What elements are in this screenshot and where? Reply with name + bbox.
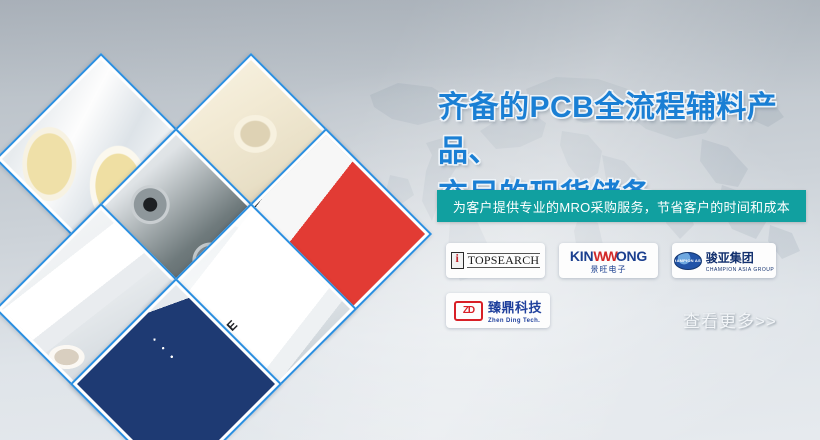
partner-logo-kinwong[interactable]: KINWWONG 景旺电子 xyxy=(559,243,658,278)
globe-icon: CHAMPION ASIA xyxy=(674,252,702,270)
partner-logo-row-1: TOPSEARCH KINWWONG 景旺电子 CHAMPION ASIA xyxy=(446,243,820,278)
kinwong-word-start: KIN xyxy=(570,248,594,264)
topsearch-lockup: TOPSEARCH xyxy=(451,252,541,269)
partner-logo-zhen-ding[interactable]: ZD 臻鼎科技 Zhen Ding Tech. xyxy=(446,293,550,328)
view-more-link[interactable]: 查看更多>> xyxy=(683,307,777,332)
kinwong-cn-name: 景旺电子 xyxy=(570,266,647,274)
champion-asia-cn-name: 骏亚集团 xyxy=(706,249,774,266)
kinwong-lockup: KINWWONG 景旺电子 xyxy=(570,248,647,274)
kinwong-word-end: ONG xyxy=(616,248,647,264)
zhen-ding-text: 臻鼎科技 Zhen Ding Tech. xyxy=(488,297,542,324)
partner-logo-champion-asia[interactable]: CHAMPION ASIA 骏亚集团 CHAMPION ASIA GROUP xyxy=(672,243,776,278)
topsearch-wordmark: TOPSEARCH xyxy=(467,253,541,268)
zhen-ding-cn-name: 臻鼎科技 xyxy=(488,297,542,316)
globe-icon-label: CHAMPION ASIA xyxy=(674,258,702,263)
partner-logo-topsearch[interactable]: TOPSEARCH xyxy=(446,243,545,278)
champion-asia-en-name: CHAMPION ASIA GROUP xyxy=(706,268,774,273)
product-collage: JIE xyxy=(0,0,420,440)
banner-subtitle-bar: 为客户提供专业的MRO采购服务，节省客户的时间和成本 xyxy=(437,190,806,222)
champion-asia-lockup: CHAMPION ASIA 骏亚集团 CHAMPION ASIA GROUP xyxy=(674,249,774,273)
zhen-ding-mark-letters: ZD xyxy=(463,305,474,316)
zhen-ding-en-name: Zhen Ding Tech. xyxy=(488,318,542,324)
zhen-ding-mark-icon: ZD xyxy=(454,301,483,321)
topsearch-mark-icon xyxy=(451,252,464,269)
promo-banner: JIE 齐备的PCB全流程辅料产品、 充足的现货储备 为客户提供专业的MRO采购… xyxy=(0,0,820,440)
champion-asia-text: 骏亚集团 CHAMPION ASIA GROUP xyxy=(706,249,774,273)
zhen-ding-lockup: ZD 臻鼎科技 Zhen Ding Tech. xyxy=(454,297,542,324)
kinwong-w-icon: WW xyxy=(593,248,615,264)
kinwong-wordmark: KINWWONG xyxy=(570,248,647,264)
banner-subtitle-text: 为客户提供专业的MRO采购服务，节省客户的时间和成本 xyxy=(453,197,790,216)
banner-content: 齐备的PCB全流程辅料产品、 充足的现货储备 为客户提供专业的MRO采购服务，节… xyxy=(437,0,820,440)
